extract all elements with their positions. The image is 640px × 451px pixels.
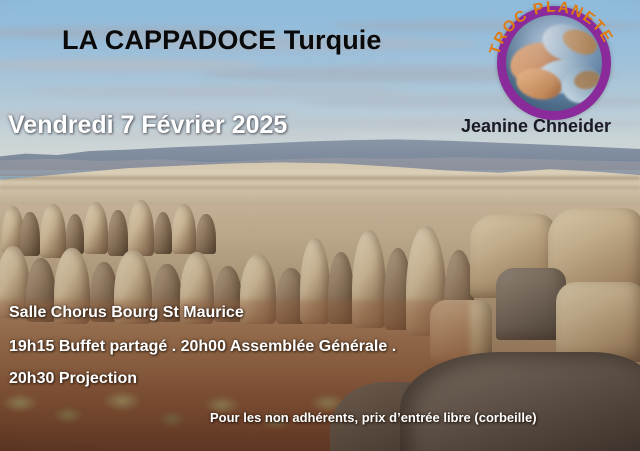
venue-location: Salle Chorus Bourg St Maurice bbox=[9, 305, 244, 321]
poster-title: LA CAPPADOCE Turquie bbox=[62, 27, 382, 54]
admission-note: Pour les non adhérents, prix d’entrée li… bbox=[210, 411, 537, 424]
rock-strata-line bbox=[0, 186, 640, 189]
troc-planete-logo: TROC PLANETE bbox=[497, 6, 611, 120]
logo-arc-text-svg: TROC PLANETE bbox=[497, 6, 611, 120]
fairy-chimney bbox=[108, 210, 128, 256]
poster-canvas: LA CAPPADOCE Turquie Vendredi 7 Février … bbox=[0, 0, 640, 451]
fairy-chimney bbox=[172, 204, 196, 254]
fairy-chimney bbox=[20, 212, 40, 256]
fairy-chimney bbox=[196, 214, 216, 254]
logo-arc-label: TROC PLANETE bbox=[486, 0, 616, 57]
rock-block bbox=[556, 282, 640, 362]
rock-strata-line bbox=[0, 176, 640, 180]
schedule-line-1: 19h15 Buffet partagé . 20h00 Assemblée G… bbox=[9, 339, 396, 355]
schedule-line-2: 20h30 Projection bbox=[9, 371, 137, 387]
dark-boulder-foreground bbox=[400, 352, 640, 451]
event-date: Vendredi 7 Février 2025 bbox=[8, 113, 287, 138]
fairy-chimney bbox=[154, 212, 172, 254]
